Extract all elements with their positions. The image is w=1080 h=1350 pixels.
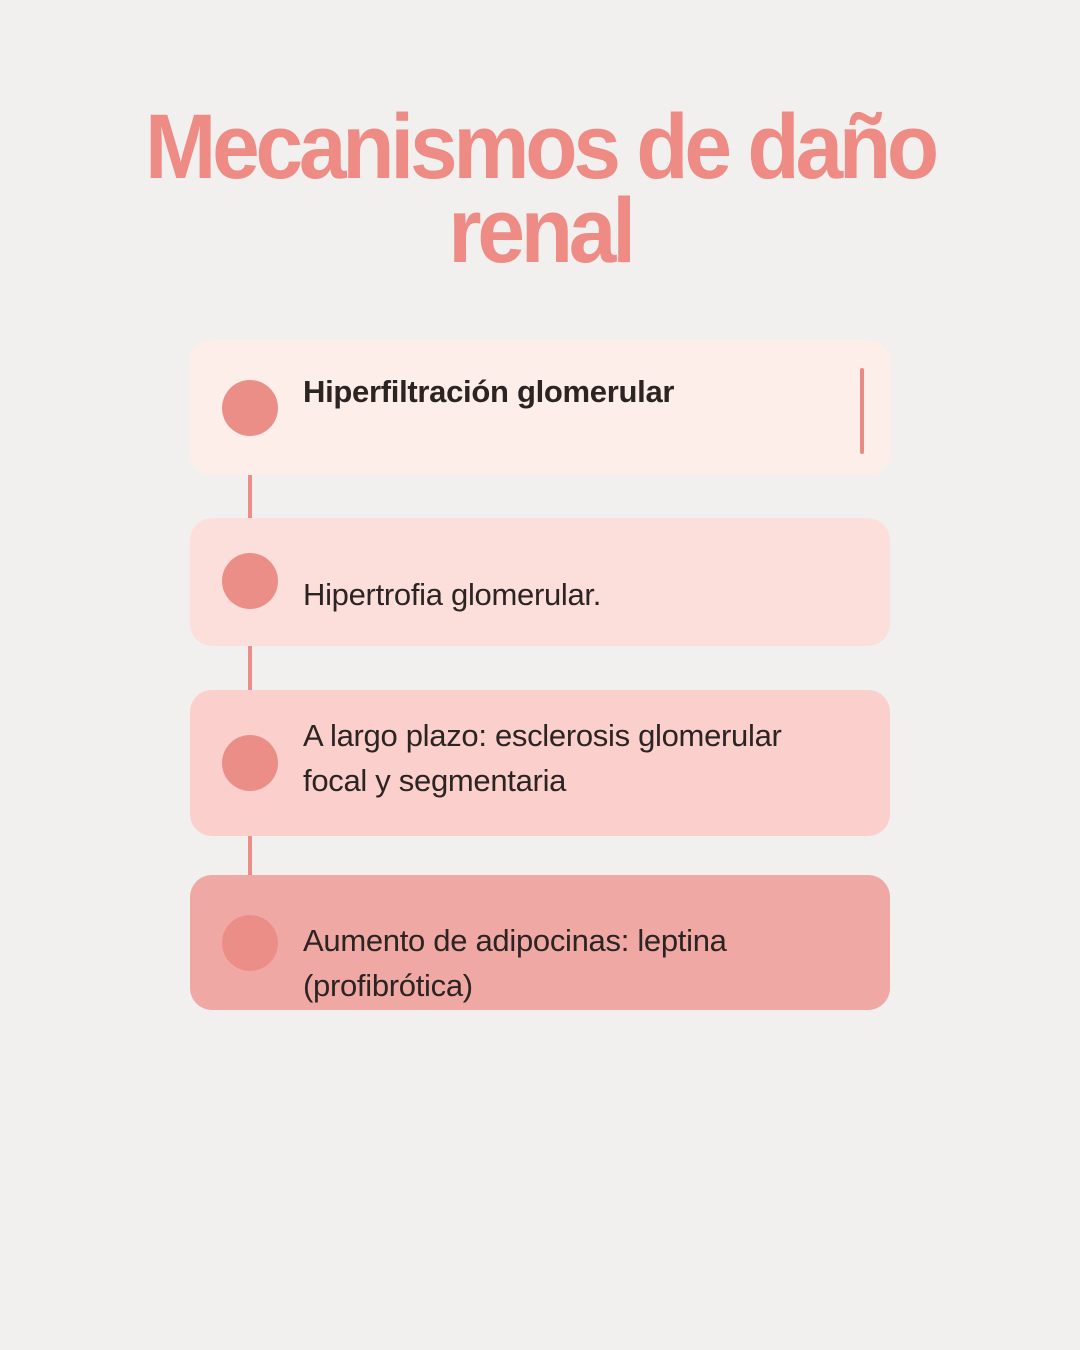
timeline-item-label-1: Hiperfiltración glomerular: [303, 369, 813, 414]
timeline-dot-2: [222, 553, 278, 609]
timeline-dot-4: [222, 915, 278, 971]
page-title-line-1: Mecanismos de daño: [38, 105, 1042, 189]
accent-bar-icon: [860, 368, 864, 454]
timeline-dot-1: [222, 380, 278, 436]
timeline-dot-3: [222, 735, 278, 791]
page-title-line-2: renal: [38, 189, 1042, 273]
timeline-item-label-4: Aumento de adipocinas: leptina (profibró…: [303, 918, 813, 1008]
timeline-list: Hiperfiltración glomerular Hipertrofia g…: [190, 340, 890, 1015]
timeline-item-label-3: A largo plazo: esclerosis glomerular foc…: [303, 713, 813, 803]
timeline-connector-line: [248, 408, 252, 948]
timeline-item-label-2: Hipertrofia glomerular.: [303, 572, 813, 617]
page-title: Mecanismos de daño renal: [0, 105, 1080, 273]
